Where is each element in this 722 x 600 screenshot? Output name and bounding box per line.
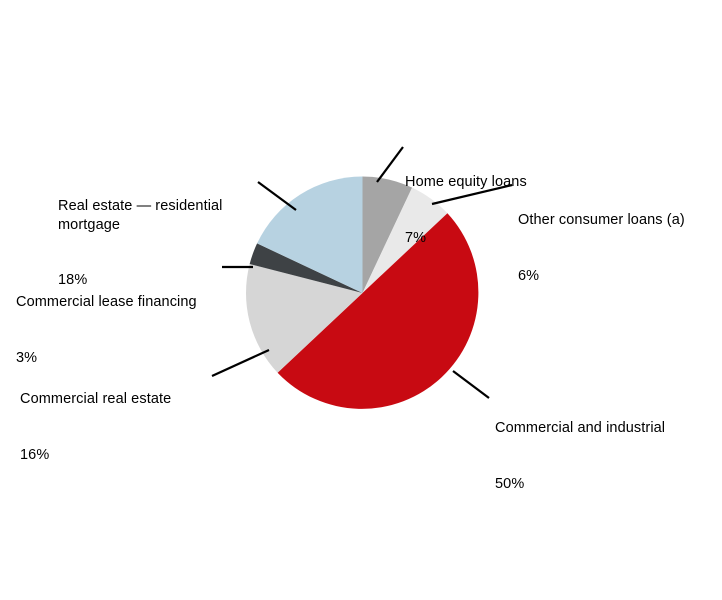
callout-value-commercial-real-estate: 16% [20, 446, 171, 465]
callout-value-commercial-and-industrial: 50% [495, 475, 665, 494]
leader-line-commercial-real-estate [212, 350, 269, 376]
callout-value-other-consumer-loans: 6% [518, 267, 685, 286]
callout-label-residential-mortgage: Real estate — residential mortgage [58, 197, 223, 234]
callout-label-home-equity-loans: Home equity loans [405, 173, 527, 192]
callout-value-home-equity-loans: 7% [405, 229, 527, 248]
callout-value-commercial-lease-financing: 3% [16, 349, 197, 368]
callout-other-consumer-loans: Other consumer loans (a) 6% [518, 174, 685, 322]
leader-line-home-equity [377, 147, 403, 182]
callout-home-equity-loans: Home equity loans 7% [405, 136, 527, 284]
callout-commercial-and-industrial: Commercial and industrial 50% [495, 382, 665, 530]
callout-label-other-consumer-loans: Other consumer loans (a) [518, 211, 685, 230]
leader-line-commercial-industrial [453, 371, 489, 398]
callout-residential-mortgage: Real estate — residential mortgage 18% [58, 160, 223, 327]
pie-chart: Home equity loans 7% Other consumer loan… [0, 0, 722, 600]
callout-label-commercial-and-industrial: Commercial and industrial [495, 419, 665, 438]
callout-value-residential-mortgage: 18% [58, 271, 223, 290]
leader-line-residential-mortgage [258, 182, 296, 210]
